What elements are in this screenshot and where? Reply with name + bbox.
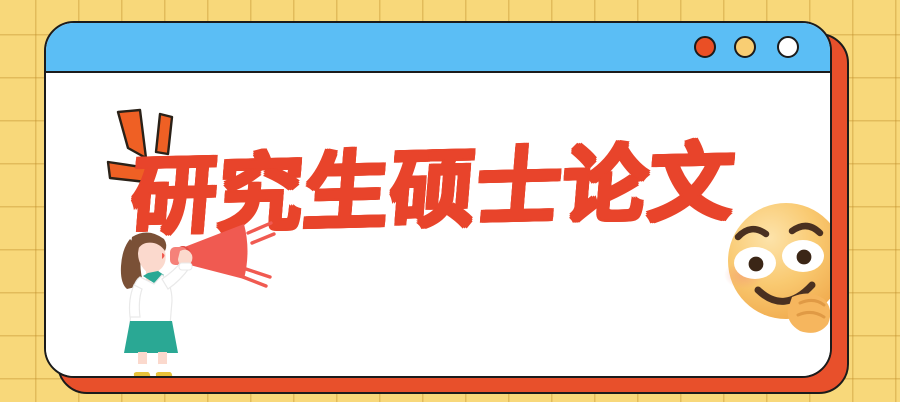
- thinking-face-emoji: [714, 193, 830, 343]
- window-minimize-button[interactable]: [734, 36, 756, 58]
- window-close-button[interactable]: [694, 36, 716, 58]
- banner-root: 研究生硕士论文: [0, 0, 900, 402]
- window-maximize-button[interactable]: [777, 36, 799, 58]
- browser-title-bar: [46, 23, 830, 73]
- window-content-area: 研究生硕士论文: [46, 73, 830, 376]
- girl-with-megaphone-illustration: [96, 221, 296, 376]
- browser-window-card: 研究生硕士论文: [44, 21, 832, 378]
